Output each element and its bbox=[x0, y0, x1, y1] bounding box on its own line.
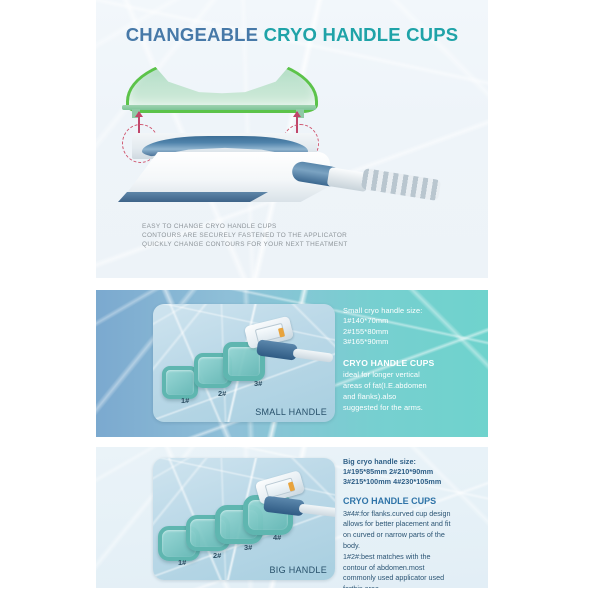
big-body-line-8: forthis area. bbox=[343, 584, 485, 588]
hero-caption-line-2: CONTOURS ARE SECURELY FASTENED TO THE AP… bbox=[142, 231, 348, 240]
big-size-title: Big cryo handle size: bbox=[343, 457, 485, 467]
applicator-hose bbox=[299, 504, 335, 518]
applicator-hose bbox=[293, 348, 334, 362]
small-size-3: 3#165*90mm bbox=[343, 337, 481, 347]
section-divider-bottom bbox=[96, 437, 488, 439]
big-handle-text-column: Big cryo handle size: 1#195*85mm 2#210*9… bbox=[343, 457, 485, 588]
big-cup-label-3: 3# bbox=[244, 543, 252, 552]
big-body-line-3: on curved or narrow parts of the bbox=[343, 530, 485, 540]
big-body-line-6: contour of abdomen.most bbox=[343, 563, 485, 573]
small-body-line-2: areas of fat(I.E.abdomen bbox=[343, 381, 481, 391]
page-title: CHANGEABLE CRYO HANDLE CUPS bbox=[96, 24, 488, 46]
big-cup-label-4: 4# bbox=[273, 533, 281, 542]
title-part-cryo-handle-cups: CRYO HANDLE CUPS bbox=[264, 24, 459, 45]
small-handle-text-column: Small cryo handle size: 1#140*70mm 2#155… bbox=[343, 306, 481, 413]
big-body-line-1: 3#4#:for flanks.curved cup design bbox=[343, 509, 485, 519]
big-body-line-7: commonly used applicator used bbox=[343, 573, 485, 583]
small-size-2: 2#155*80mm bbox=[343, 327, 481, 337]
applicator-hose bbox=[361, 168, 441, 201]
green-cup-rim bbox=[122, 105, 316, 110]
big-body-line-2: allows for better placement and fit bbox=[343, 519, 485, 529]
small-size-title: Small cryo handle size: bbox=[343, 306, 481, 316]
small-body-line-4: suggested for the arms. bbox=[343, 403, 481, 413]
hero-caption: EASY TO CHANGE CRYO HANDLE CUPS CONTOURS… bbox=[142, 222, 348, 250]
small-cup-1 bbox=[162, 366, 198, 399]
small-cup-label-3: 3# bbox=[254, 379, 262, 388]
hero-section: CHANGEABLE CRYO HANDLE CUPS EASY TO CHAN… bbox=[96, 0, 488, 278]
big-cup-label-2: 2# bbox=[213, 551, 221, 560]
small-handle-photo-label: SMALL HANDLE bbox=[255, 407, 327, 417]
small-body-line-3: and flanks).also bbox=[343, 392, 481, 402]
big-handle-photo: 1# 2# 3# 4# BIG HANDLE bbox=[153, 458, 335, 580]
big-handle-photo-label: BIG HANDLE bbox=[269, 565, 327, 575]
big-heading: CRYO HANDLE CUPS bbox=[343, 495, 485, 508]
hero-caption-line-1: EASY TO CHANGE CRYO HANDLE CUPS bbox=[142, 222, 348, 231]
big-cup-label-1: 1# bbox=[178, 558, 186, 567]
small-size-1: 1#140*70mm bbox=[343, 316, 481, 326]
title-part-changeable: CHANGEABLE bbox=[126, 24, 264, 45]
hero-caption-line-3: QUICKLY CHANGE CONTOURS FOR YOUR NEXT TH… bbox=[142, 240, 348, 249]
big-size-row-2: 3#215*100mm 4#230*105mm bbox=[343, 477, 485, 487]
small-cup-label-2: 2# bbox=[218, 389, 226, 398]
product-infographic: CHANGEABLE CRYO HANDLE CUPS EASY TO CHAN… bbox=[0, 0, 600, 600]
small-heading: CRYO HANDLE CUPS bbox=[343, 357, 481, 369]
small-handle-photo: 1# 2# 3# SMALL HANDLE bbox=[153, 304, 335, 422]
small-cup-label-1: 1# bbox=[181, 396, 189, 405]
small-body-line-1: ideal for longer vertical bbox=[343, 370, 481, 380]
big-body-line-4: body. bbox=[343, 541, 485, 551]
applicator-fin bbox=[118, 192, 268, 202]
big-size-row-1: 1#195*85mm 2#210*90mm bbox=[343, 467, 485, 477]
section-divider-top bbox=[96, 288, 488, 290]
big-handle-section: 1# 2# 3# 4# BIG HANDLE Big cryo handle s… bbox=[96, 447, 488, 588]
hero-illustration bbox=[96, 52, 488, 217]
small-handle-section: 1# 2# 3# SMALL HANDLE Small cryo handle … bbox=[96, 290, 488, 437]
big-body-line-5: 1#2#:best matches with the bbox=[343, 552, 485, 562]
